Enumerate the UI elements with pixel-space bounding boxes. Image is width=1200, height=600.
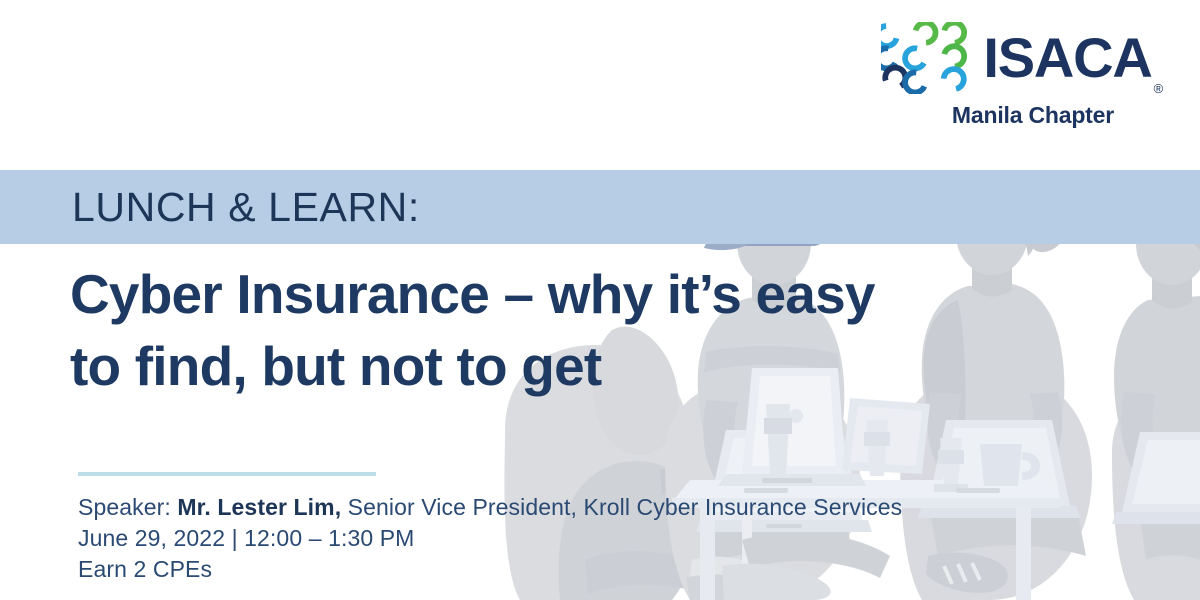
event-details: Speaker: Mr. Lester Lim, Senior Vice Pre…	[78, 492, 902, 585]
logo-wordmark-text: ISACA	[983, 26, 1151, 89]
headline-line-1: Cyber Insurance – why it’s easy	[70, 258, 1110, 330]
isaca-rings-mark-icon	[881, 22, 967, 94]
kicker-text: LUNCH & LEARN:	[72, 178, 420, 236]
logo-chapter-name: Manila Chapter	[952, 102, 1114, 128]
registered-trademark-icon: ®	[1154, 81, 1162, 96]
cpe-line: Earn 2 CPEs	[78, 554, 902, 585]
datetime-line: June 29, 2022 | 12:00 – 1:30 PM	[78, 523, 902, 554]
isaca-logo: ISACA® Manila Chapter	[881, 22, 1160, 128]
speaker-title: Senior Vice President, Kroll Cyber Insur…	[341, 494, 902, 520]
logo-wordmark: ISACA®	[983, 30, 1160, 86]
divider	[78, 472, 376, 476]
speaker-name: Mr. Lester Lim,	[177, 494, 341, 520]
headline-line-2: to find, but not to get	[70, 330, 1110, 402]
speaker-label: Speaker:	[78, 494, 177, 520]
speaker-line: Speaker: Mr. Lester Lim, Senior Vice Pre…	[78, 492, 902, 523]
event-banner: LUNCH & LEARN: Cyber Insurance – why it’…	[0, 0, 1200, 600]
page-title: Cyber Insurance – why it’s easy to find,…	[70, 258, 1110, 402]
logo-top-row: ISACA®	[881, 22, 1160, 94]
